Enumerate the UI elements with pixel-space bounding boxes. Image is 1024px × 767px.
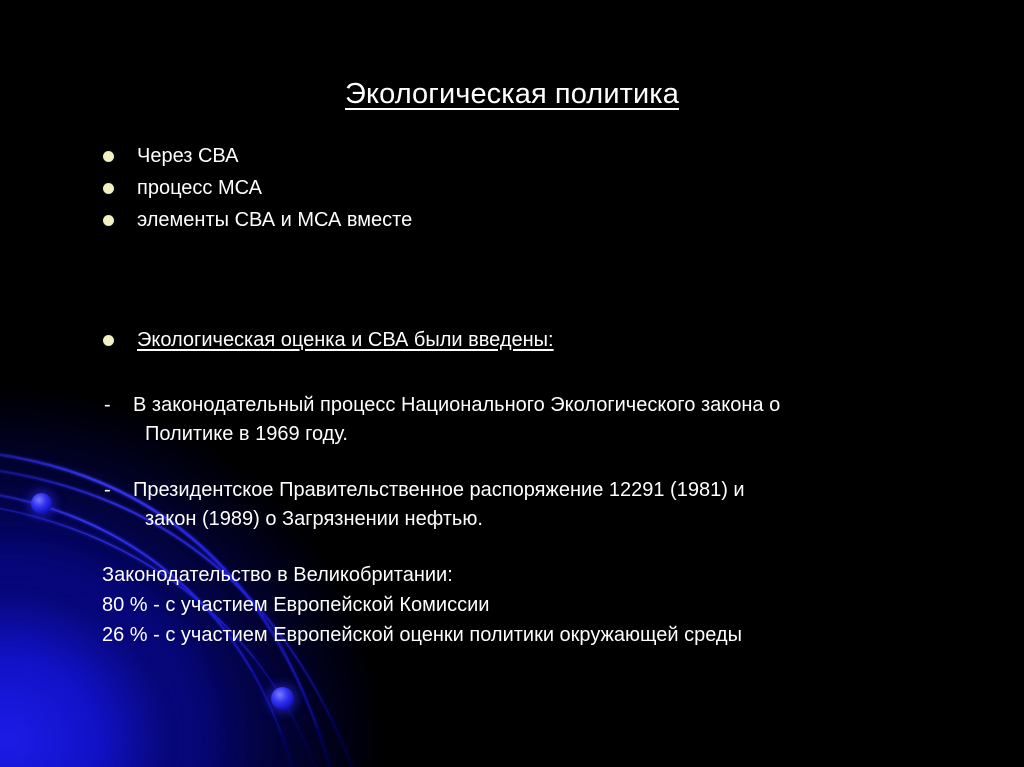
paragraph-line-1: В законодательный процесс Национального … <box>133 391 984 420</box>
decorative-arc-lines <box>0 0 1024 767</box>
list-item-label: элементы СВА и МСА вместе <box>137 207 412 233</box>
arc-node-dot-upper <box>31 493 52 514</box>
bullet-dot-icon <box>103 183 114 194</box>
list-item: Через СВА <box>100 143 960 175</box>
dashed-paragraph: - В законодательный процесс Национальног… <box>104 391 984 449</box>
paragraph-line-2: Политике в 1969 году. <box>145 420 984 449</box>
section-heading-label: Экологическая оценка и СВА были введены: <box>137 327 554 353</box>
paragraph-line-1: Президентское Правительственное распоряж… <box>133 476 984 505</box>
list-item-label: процесс МСА <box>137 175 262 201</box>
page-title: Экологическая политика <box>0 76 1024 112</box>
closing-stat-80: 80 % - с участием Европейской Комиссии <box>102 590 742 620</box>
bullet-list: Через СВА процесс МСА элементы СВА и МСА… <box>100 143 960 239</box>
list-item: элементы СВА и МСА вместе <box>100 207 960 239</box>
bullet-dot-icon <box>103 215 114 226</box>
closing-stat-26: 26 % - с участием Европейской оценки пол… <box>102 620 742 650</box>
presentation-slide: Экологическая политика Через СВА процесс… <box>0 0 1024 767</box>
dash-marker: - <box>104 476 111 505</box>
list-item: процесс МСА <box>100 175 960 207</box>
paragraph-line-2: закон (1989) о Загрязнении нефтью. <box>145 505 984 534</box>
arc-node-dot-lower <box>271 687 294 710</box>
list-item-label: Через СВА <box>137 143 238 169</box>
closing-text-block: Законодательство в Великобритании: 80 % … <box>102 560 742 650</box>
bullet-dot-icon <box>103 151 114 162</box>
bullet-dot-icon <box>103 335 114 346</box>
dash-marker: - <box>104 391 111 420</box>
closing-heading: Законодательство в Великобритании: <box>102 560 742 590</box>
section-heading-item: Экологическая оценка и СВА были введены: <box>100 327 554 353</box>
dashed-paragraph: - Президентское Правительственное распор… <box>104 476 984 534</box>
slide-background-decoration <box>0 0 1024 767</box>
